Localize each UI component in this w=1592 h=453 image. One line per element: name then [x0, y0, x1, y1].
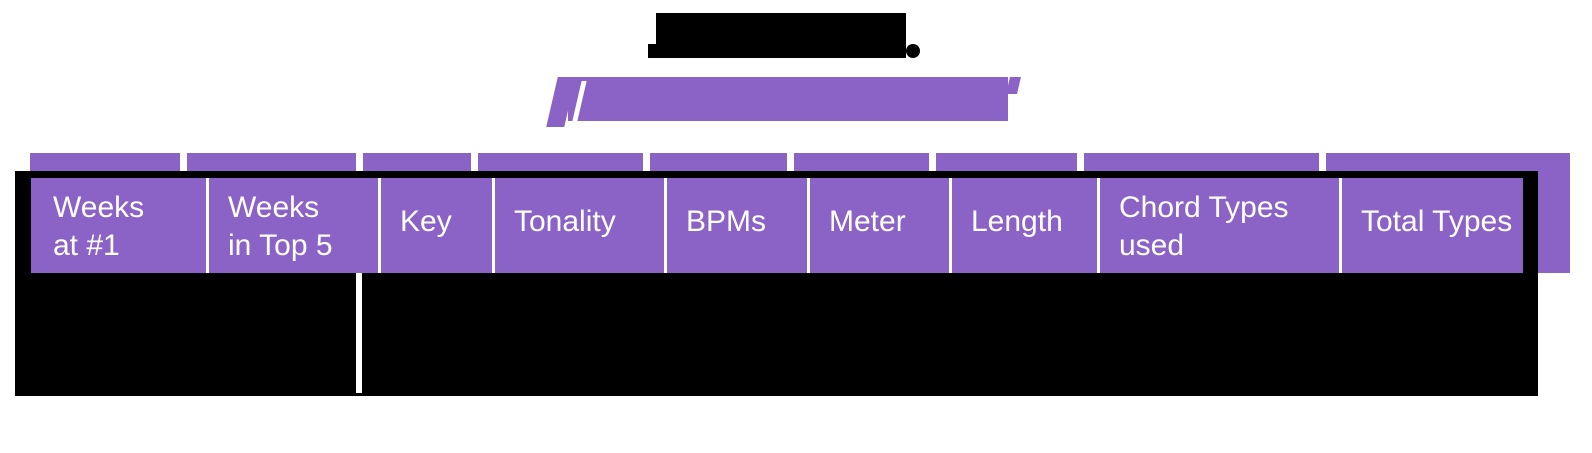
- column-header-total-types[interactable]: Total Types: [1339, 178, 1523, 273]
- column-header-weeks-in-top-5[interactable]: Weeks in Top 5: [206, 178, 378, 273]
- page-subtitle: [568, 77, 1008, 121]
- column-header-key[interactable]: Key: [378, 178, 492, 273]
- column-header-weeks-at-1[interactable]: Weeks at #1: [31, 178, 206, 273]
- column-header-bpms[interactable]: BPMs: [664, 178, 807, 273]
- slide-canvas: Weeks at #1 Weeks in Top 5 Key Tonality …: [0, 0, 1592, 453]
- column-header-tonality[interactable]: Tonality: [492, 178, 664, 273]
- table-body-column-divider: [356, 273, 362, 393]
- page-title: [656, 13, 906, 58]
- table-header-row: Weeks at #1 Weeks in Top 5 Key Tonality …: [31, 178, 1523, 273]
- column-header-meter[interactable]: Meter: [807, 178, 949, 273]
- column-header-length[interactable]: Length: [949, 178, 1097, 273]
- column-header-chord-types-used[interactable]: Chord Types used: [1097, 178, 1339, 273]
